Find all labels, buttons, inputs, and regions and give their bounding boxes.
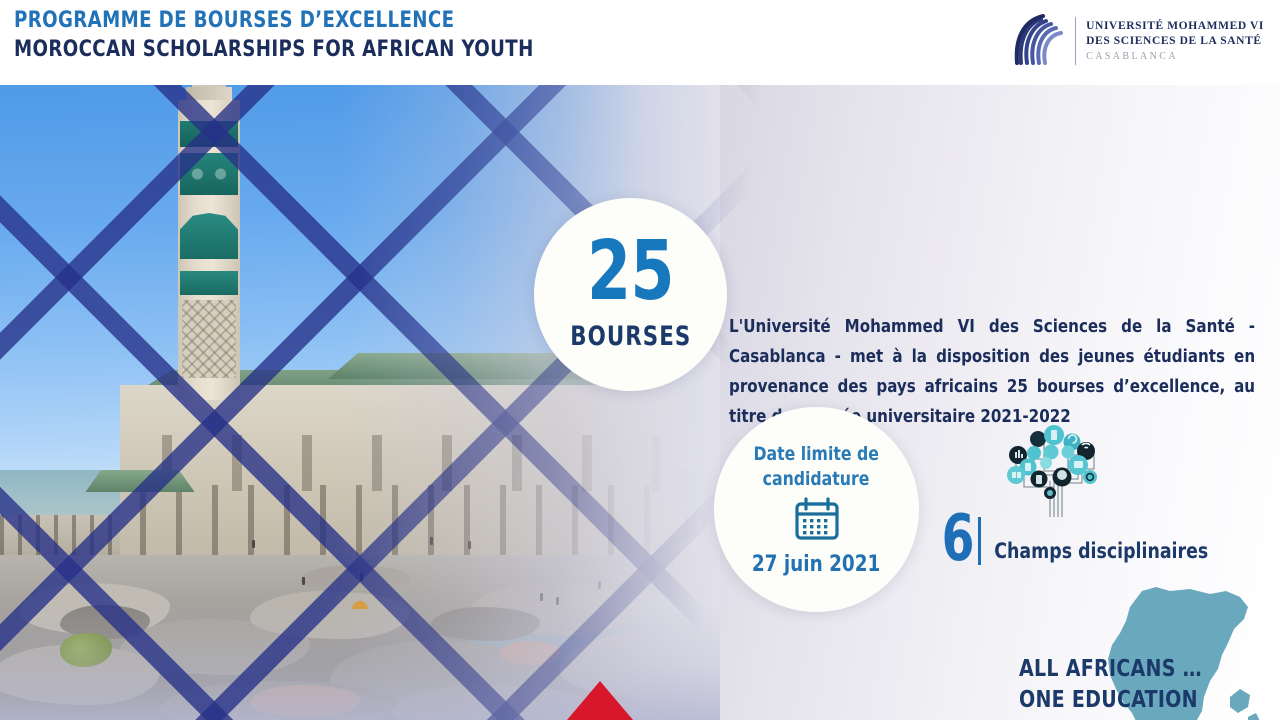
logo-divider <box>1075 17 1076 65</box>
university-logo: UNIVERSITÉ MOHAMMED VI DES SCIENCES DE L… <box>1011 10 1264 72</box>
fields-label: Champs disciplinaires <box>994 539 1208 563</box>
deadline-title-line-2: candidature <box>763 467 870 492</box>
minaret-lattice-pattern <box>182 300 236 378</box>
fields-badge: 6 Champs disciplinaires <box>938 425 1228 575</box>
tech-tree-icon <box>994 425 1114 522</box>
deadline-title-line-1: Date limite de <box>754 442 879 467</box>
hassan-ii-mosque-photo <box>0 85 720 720</box>
logo-line-1: UNIVERSITÉ MOHAMMED VI <box>1086 19 1264 34</box>
header-title-english: MOROCCAN SCHOLARSHIPS FOR AFRICAN YOUTH <box>14 36 534 64</box>
poster-canvas: 25 BOURSES L'Université Mohammed VI des … <box>0 85 1280 720</box>
scholarship-count-number: 25 <box>587 237 674 308</box>
logo-line-3: CASABLANCA <box>1086 50 1264 63</box>
person-figure <box>302 577 305 585</box>
calendar-icon <box>794 497 840 546</box>
minaret-band-1 <box>180 121 238 147</box>
fields-divider <box>978 517 981 565</box>
logo-line-2: DES SCIENCES DE LA SANTÉ <box>1086 34 1264 49</box>
morocco-flag <box>495 681 705 720</box>
fields-row: 6 Champs disciplinaires <box>938 513 1217 565</box>
fields-count-number: 6 <box>942 513 975 565</box>
logo-text: UNIVERSITÉ MOHAMMED VI DES SCIENCES DE L… <box>1086 19 1264 64</box>
scholarship-count-label: BOURSES <box>570 321 691 352</box>
tagline: ALL AFRICANS … ONE EDUCATION <box>1019 654 1218 716</box>
header-titles: PROGRAMME DE BOURSES D’EXCELLENCE MOROCC… <box>14 8 579 64</box>
deadline-badge: Date limite de candidature 27 juin 2021 <box>714 407 919 612</box>
person-figure <box>252 540 255 548</box>
scholarship-count-badge: 25 BOURSES <box>534 198 727 391</box>
tagline-line-1: ALL AFRICANS … <box>1019 654 1202 685</box>
minaret-band-4 <box>180 271 238 295</box>
university-swirl-logo-icon <box>1011 13 1069 69</box>
flag-red-field <box>495 681 705 720</box>
minaret-band-2 <box>180 153 238 195</box>
page-header: PROGRAMME DE BOURSES D’EXCELLENCE MOROCC… <box>0 0 1280 85</box>
tagline-line-2: ONE EDUCATION <box>1019 685 1202 716</box>
header-title-french: PROGRAMME DE BOURSES D’EXCELLENCE <box>14 8 534 34</box>
deadline-date: 27 juin 2021 <box>752 552 880 577</box>
